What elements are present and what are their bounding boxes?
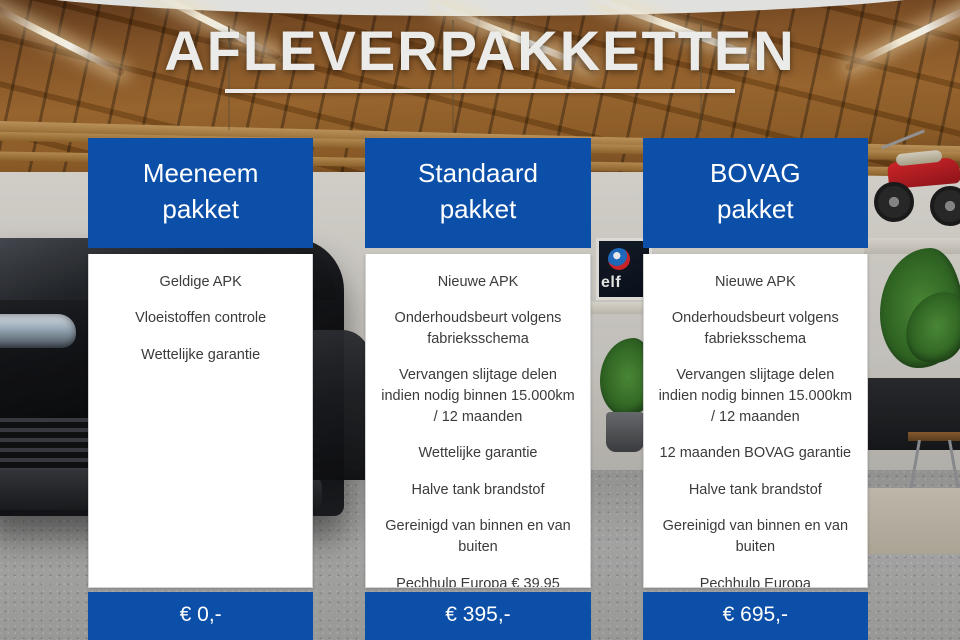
package-title-line1: Meeneem: [98, 156, 303, 192]
feature-item: Vervangen slijtage delen indien nodig bi…: [380, 365, 575, 427]
feature-item: Wettelijke garantie: [103, 345, 298, 366]
feature-item: Vervangen slijtage delen indien nodig bi…: [658, 365, 853, 427]
feature-item: Nieuwe APK: [658, 272, 853, 293]
package-card-header: Standaard pakket: [365, 138, 590, 248]
package-title-line2: pakket: [653, 192, 858, 228]
feature-item: 12 maanden BOVAG garantie: [658, 443, 853, 464]
package-card-standaard[interactable]: Standaard pakket Nieuwe APK Onderhoudsbe…: [365, 138, 590, 640]
package-price: € 0,-: [88, 592, 313, 640]
package-title-line2: pakket: [98, 192, 303, 228]
feature-item: Gereinigd van binnen en van buiten: [380, 516, 575, 557]
title-underline: [225, 89, 735, 93]
feature-item: Halve tank brandstof: [658, 480, 853, 501]
package-title-line1: BOVAG: [653, 156, 858, 192]
feature-item: Onderhoudsbeurt volgens fabrieksschema: [380, 308, 575, 349]
page-title: AFLEVERPAKKETTEN: [0, 18, 960, 83]
package-feature-list: Geldige APK Vloeistoffen controle Wettel…: [88, 254, 313, 588]
package-feature-list: Nieuwe APK Onderhoudsbeurt volgens fabri…: [643, 254, 868, 588]
feature-item: Nieuwe APK: [380, 272, 575, 293]
feature-item: Halve tank brandstof: [380, 480, 575, 501]
package-card-header: Meeneem pakket: [88, 138, 313, 248]
package-title-line1: Standaard: [375, 156, 580, 192]
feature-item: Vloeistoffen controle: [103, 308, 298, 329]
slide-root: elf AFLEVERPAKKETTEN Meeneem pakket Geld…: [0, 0, 960, 640]
package-price: € 695,-: [643, 592, 868, 640]
feature-item: Gereinigd van binnen en van buiten: [658, 516, 853, 557]
feature-item: Pechhulp Europa € 39,95: [380, 574, 575, 588]
feature-item: Geldige APK: [103, 272, 298, 293]
package-cards: Meeneem pakket Geldige APK Vloeistoffen …: [88, 138, 868, 640]
feature-item: Wettelijke garantie: [380, 443, 575, 464]
feature-item: Pechhulp Europa: [658, 574, 853, 588]
feature-item: Onderhoudsbeurt volgens fabrieksschema: [658, 308, 853, 349]
package-title-line2: pakket: [375, 192, 580, 228]
package-card-bovag[interactable]: BOVAG pakket Nieuwe APK Onderhoudsbeurt …: [643, 138, 868, 640]
package-card-meeneem[interactable]: Meeneem pakket Geldige APK Vloeistoffen …: [88, 138, 313, 640]
package-price: € 395,-: [365, 592, 590, 640]
package-feature-list: Nieuwe APK Onderhoudsbeurt volgens fabri…: [365, 254, 590, 588]
package-card-header: BOVAG pakket: [643, 138, 868, 248]
